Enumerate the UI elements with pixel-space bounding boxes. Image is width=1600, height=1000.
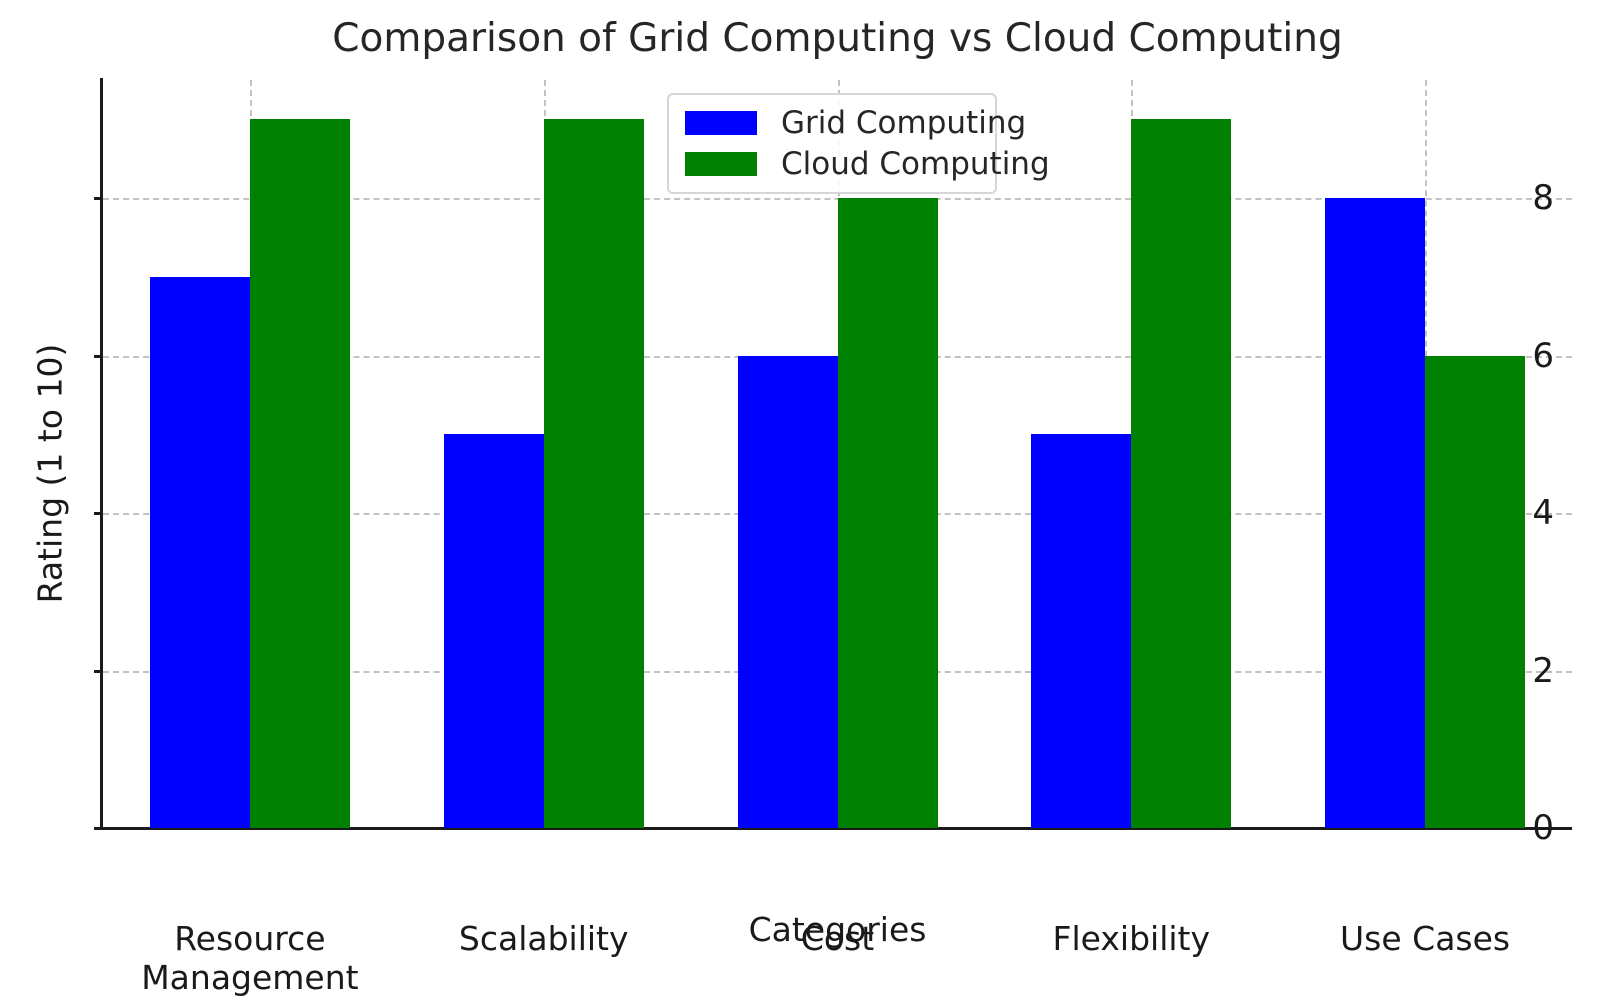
x-axis-title: Categories <box>103 910 1572 949</box>
legend-label: Cloud Computing <box>781 146 1050 182</box>
y-tick-mark <box>94 670 103 673</box>
y-axis-title: Rating (1 to 10) <box>31 284 70 664</box>
legend-swatch-icon <box>685 152 757 176</box>
y-tick-label: 0 <box>1532 811 1554 845</box>
bar-cloud-computing <box>250 119 350 828</box>
bar-cloud-computing <box>1425 356 1525 828</box>
bar-cloud-computing <box>544 119 644 828</box>
y-tick-mark <box>94 512 103 515</box>
bar-grid-computing <box>150 277 250 828</box>
bar-grid-computing <box>738 356 838 828</box>
chart-legend: Grid ComputingCloud Computing <box>667 93 997 194</box>
y-tick-label: 8 <box>1532 181 1554 215</box>
chart-figure: Comparison of Grid Computing vs Cloud Co… <box>0 0 1600 1000</box>
bar-grid-computing <box>1325 198 1425 828</box>
chart-title: Comparison of Grid Computing vs Cloud Co… <box>103 16 1572 61</box>
y-tick-mark <box>94 355 103 358</box>
legend-item[interactable]: Cloud Computing <box>685 148 977 180</box>
bar-grid-computing <box>444 434 544 828</box>
bar-cloud-computing <box>1131 119 1231 828</box>
bar-grid-computing <box>1031 434 1131 828</box>
legend-swatch-icon <box>685 111 757 135</box>
y-tick-label: 4 <box>1532 496 1554 530</box>
y-tick-label: 6 <box>1532 339 1554 373</box>
y-tick-mark <box>94 827 103 830</box>
y-tick-label: 2 <box>1532 654 1554 688</box>
bar-cloud-computing <box>838 198 938 828</box>
legend-item[interactable]: Grid Computing <box>685 107 977 139</box>
y-tick-mark <box>94 197 103 200</box>
legend-label: Grid Computing <box>781 105 1026 141</box>
